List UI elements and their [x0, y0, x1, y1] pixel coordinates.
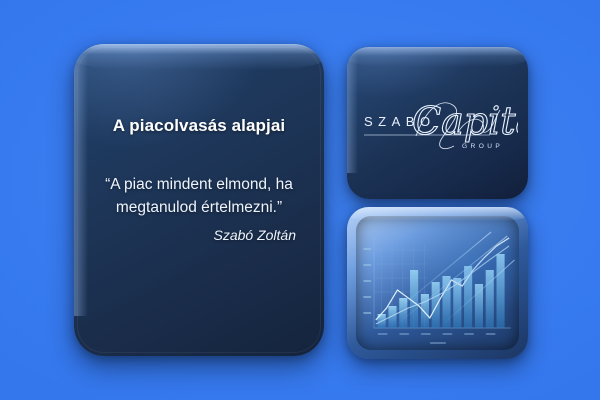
- chart-y-ticks: [363, 248, 371, 314]
- brand-script-text: Capital: [412, 99, 518, 143]
- financial-chart: [356, 216, 519, 350]
- brand-logo: SZABO Capital GROUP: [347, 47, 528, 199]
- brand-suffix-text: GROUP: [462, 143, 503, 150]
- quote-card: A piacolvasás alapjai “A piac mindent el…: [74, 44, 324, 356]
- quote-text: “A piac mindent elmond, ha megtanulod ér…: [96, 174, 302, 219]
- chart-screen: [356, 216, 519, 350]
- quote-content: A piacolvasás alapjai “A piac mindent el…: [74, 44, 324, 356]
- quote-author: Szabó Zoltán: [96, 227, 302, 243]
- quote-title: A piacolvasás alapjai: [96, 116, 302, 136]
- brand-logo-svg: SZABO Capital GROUP: [358, 86, 518, 160]
- chart-card: [347, 207, 528, 359]
- logo-card: SZABO Capital GROUP: [347, 47, 528, 199]
- chart-x-ticks: [378, 333, 496, 344]
- poster-canvas: A piacolvasás alapjai “A piac mindent el…: [0, 0, 600, 400]
